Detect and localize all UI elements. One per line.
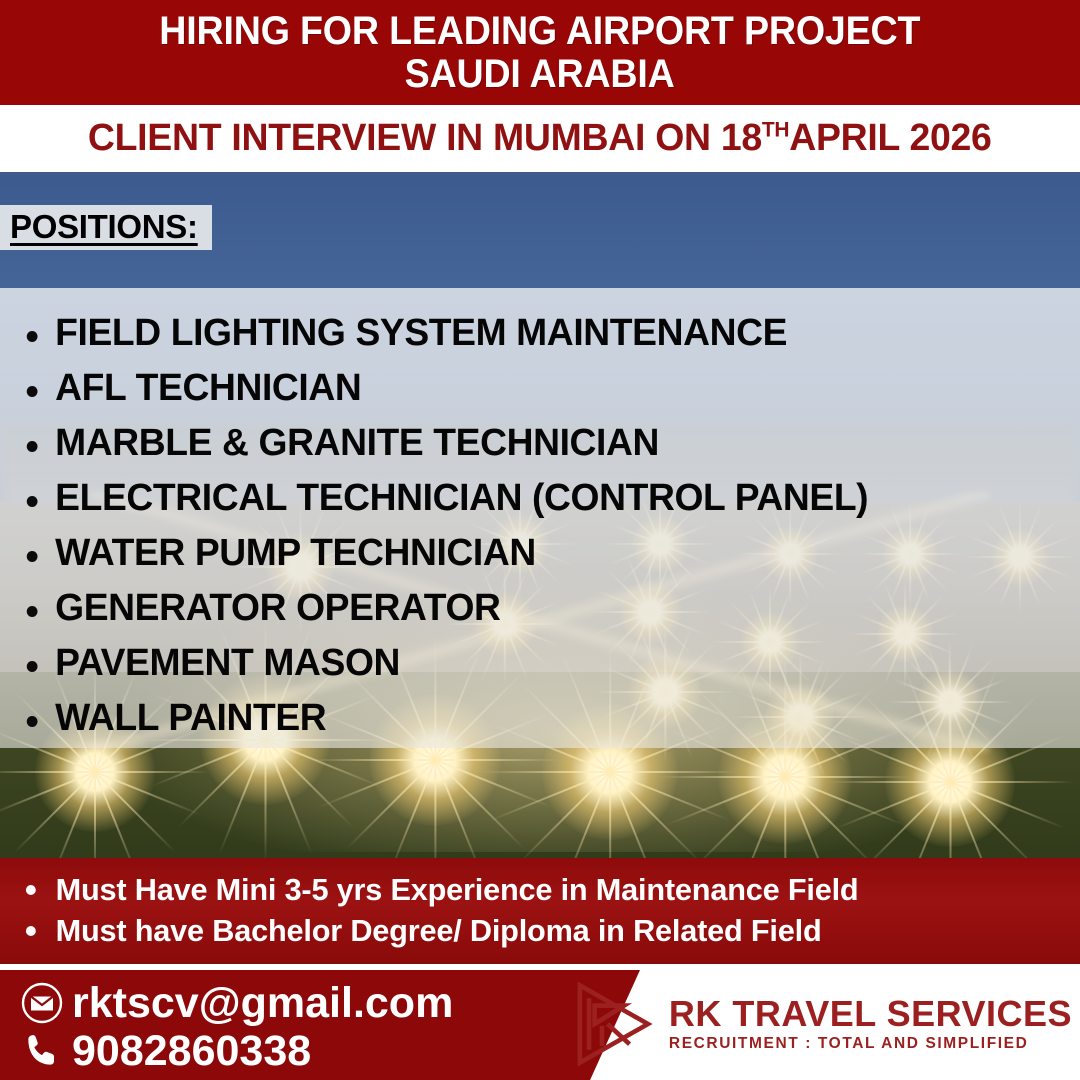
list-item: GENERATOR OPERATOR bbox=[14, 581, 1014, 636]
list-item: ELECTRICAL TECHNICIAN (CONTROL PANEL) bbox=[14, 471, 1014, 526]
interview-band: CLIENT INTERVIEW IN MUMBAI ON 18THAPRIL … bbox=[0, 105, 1080, 172]
requirements-band: Must Have Mini 3-5 yrs Experience in Mai… bbox=[0, 858, 1080, 964]
positions-heading: POSITIONS: bbox=[0, 205, 212, 250]
list-item: WALL PAINTER bbox=[14, 691, 1014, 746]
interview-suffix: APRIL 2026 bbox=[790, 117, 992, 159]
rk-triangle-logo-icon bbox=[567, 978, 659, 1070]
contact-block: rktscv@gmail.com 9082860338 bbox=[18, 978, 453, 1076]
poster-title-line1: HIRING FOR LEADING AIRPORT PROJECT bbox=[160, 10, 921, 52]
brand-tagline: RECRUITMENT : TOTAL AND SIMPLIFIED bbox=[669, 1034, 1072, 1054]
interview-ordinal: TH bbox=[762, 117, 789, 141]
phone-icon bbox=[18, 1027, 66, 1075]
requirements-list: Must Have Mini 3-5 yrs Experience in Mai… bbox=[0, 858, 1080, 951]
contact-email-text: rktscv@gmail.com bbox=[72, 978, 453, 1028]
contact-email-row[interactable]: rktscv@gmail.com bbox=[18, 978, 453, 1028]
list-item: AFL TECHNICIAN bbox=[14, 361, 1014, 416]
contact-phone-text: 9082860338 bbox=[72, 1026, 311, 1076]
positions-heading-label: POSITIONS: bbox=[10, 208, 198, 245]
list-item: PAVEMENT MASON bbox=[14, 636, 1014, 691]
list-item: Must have Bachelor Degree/ Diploma in Re… bbox=[18, 910, 1069, 951]
contact-phone-row[interactable]: 9082860338 bbox=[18, 1026, 453, 1076]
list-item: Must Have Mini 3-5 yrs Experience in Mai… bbox=[18, 869, 1069, 910]
footer: rktscv@gmail.com 9082860338 bbox=[0, 970, 1080, 1080]
list-item: WATER PUMP TECHNICIAN bbox=[14, 526, 1014, 581]
interview-announcement: CLIENT INTERVIEW IN MUMBAI ON 18THAPRIL … bbox=[88, 117, 992, 160]
envelope-icon bbox=[18, 979, 66, 1027]
interview-prefix: CLIENT INTERVIEW IN MUMBAI ON 18 bbox=[88, 117, 762, 159]
title-banner: HIRING FOR LEADING AIRPORT PROJECT SAUDI… bbox=[0, 0, 1080, 105]
brand-logo: RK TRAVEL SERVICES RECRUITMENT : TOTAL A… bbox=[567, 978, 1072, 1070]
poster-title-line2: SAUDI ARABIA bbox=[405, 53, 675, 95]
recruitment-poster: HIRING FOR LEADING AIRPORT PROJECT SAUDI… bbox=[0, 0, 1080, 1080]
brand-name: RK TRAVEL SERVICES bbox=[669, 994, 1072, 1034]
brand-text: RK TRAVEL SERVICES RECRUITMENT : TOTAL A… bbox=[669, 994, 1072, 1054]
list-item: MARBLE & GRANITE TECHNICIAN bbox=[14, 416, 1014, 471]
positions-list: FIELD LIGHTING SYSTEM MAINTENANCE AFL TE… bbox=[0, 292, 1034, 746]
list-item: FIELD LIGHTING SYSTEM MAINTENANCE bbox=[14, 306, 1014, 361]
